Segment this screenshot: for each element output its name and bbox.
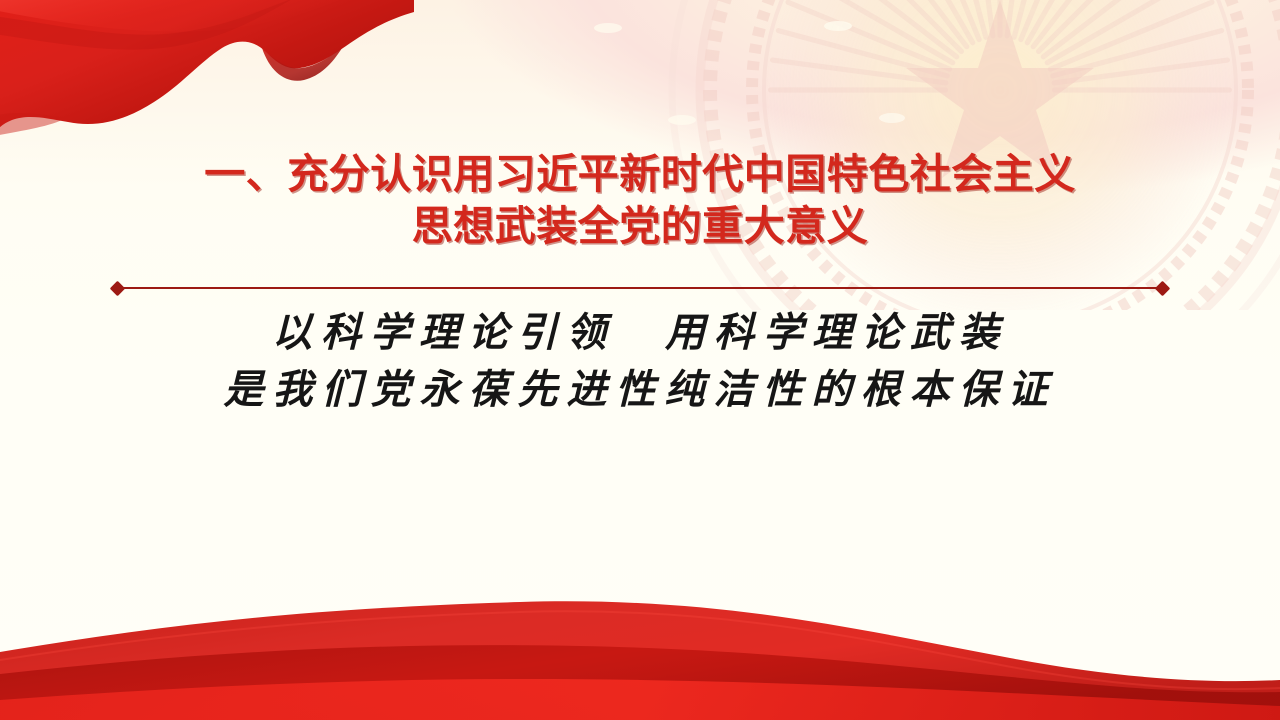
- slide-subtitle: 以科学理论引领 用科学理论武装 是我们党永葆先进性纯洁性的根本保证: [0, 305, 1280, 419]
- divider-rule: [118, 287, 1162, 289]
- subtitle-line-1-part-2: 用科学理论武装: [665, 309, 1008, 356]
- subtitle-line-2: 是我们党永葆先进性纯洁性的根本保证: [0, 362, 1280, 419]
- subtitle-line-1-part-1: 以科学理论引领: [272, 309, 615, 356]
- presentation-slide: 一、充分认识用习近平新时代中国特色社会主义 思想武装全党的重大意义 以科学理论引…: [0, 0, 1280, 720]
- divider-diamond-right-icon: [1155, 281, 1171, 297]
- title-line-1: 一、充分认识用习近平新时代中国特色社会主义: [0, 152, 1280, 198]
- title-line-2: 思想武装全党的重大意义: [0, 204, 1280, 250]
- subtitle-line-1-spacer: [615, 309, 665, 356]
- subtitle-line-1: 以科学理论引领 用科学理论武装: [0, 305, 1280, 362]
- title-divider: [112, 282, 1168, 294]
- slide-title: 一、充分认识用习近平新时代中国特色社会主义 思想武装全党的重大意义: [0, 152, 1280, 250]
